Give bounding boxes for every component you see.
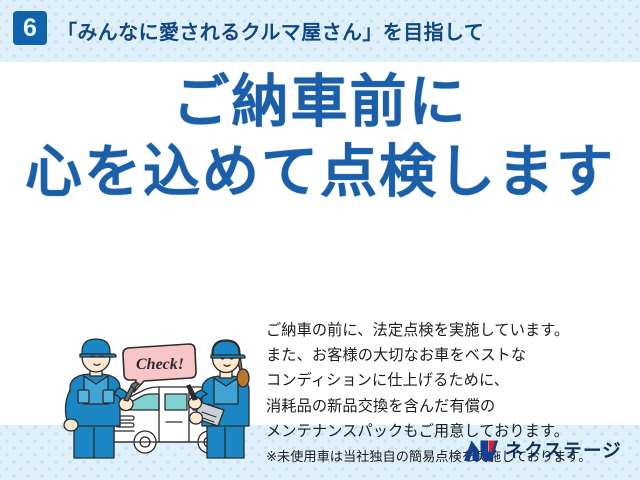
header-bar: 6 「みんなに愛されるクルマ屋さん」を目指して	[0, 0, 640, 62]
body-line-4: 消耗品の新品交換を含んだ有償の	[266, 394, 626, 419]
brand-logo: ネクステージ	[464, 437, 622, 463]
headline-line-1: ご納車前に	[0, 72, 640, 132]
advertisement-canvas: 6 「みんなに愛されるクルマ屋さん」を目指して ご納車前に 心を込めて点検します	[0, 0, 640, 480]
headline: ご納車前に 心を込めて点検します	[0, 72, 640, 203]
headline-line-2: 心を込めて点検します	[0, 142, 640, 202]
content-panel: ご納車前に 心を込めて点検します	[0, 62, 640, 425]
body-line-3: コンディションに仕上げるために、	[266, 368, 626, 393]
footer-bar: ネクステージ	[0, 425, 640, 480]
speech-bubble-text: Check!	[136, 356, 184, 373]
body-line-1: ご納車の前に、法定点検を実施しています。	[266, 318, 626, 343]
body-line-2: また、お客様の大切なお車をベストな	[266, 343, 626, 368]
brand-name: ネクステージ	[505, 437, 622, 463]
section-number-badge: 6	[13, 11, 47, 45]
nextage-n-icon	[464, 439, 498, 462]
header-title: 「みんなに愛されるクルマ屋さん」を目指して	[57, 12, 484, 48]
